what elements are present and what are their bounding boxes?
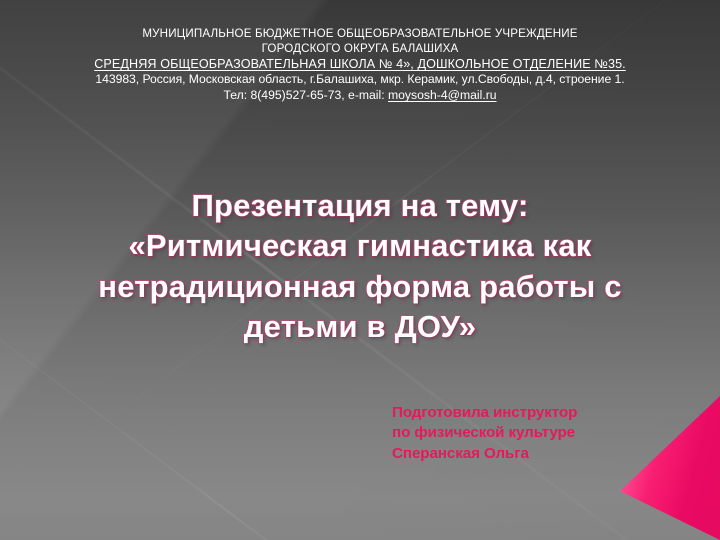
- institution-header-block: МУНИЦИПАЛЬНОЕ БЮДЖЕТНОЕ ОБЩЕОБРАЗОВАТЕЛЬ…: [0, 26, 720, 104]
- author-line-1: Подготовила инструктор: [392, 403, 652, 423]
- title-line-1: Презентация на тему:: [50, 186, 670, 226]
- author-line-3-name: Сперанская Ольга: [392, 444, 652, 464]
- author-credit-block: Подготовила инструктор по физической кул…: [392, 403, 652, 464]
- title-line-3: нетрадиционная форма работы с: [50, 267, 670, 307]
- header-line-4-address: 143983, Россия, Московская область, г.Ба…: [0, 72, 720, 88]
- header-line-3-school-name: СРЕДНЯЯ ОБЩЕОБРАЗОВАТЕЛЬНАЯ ШКОЛА № 4», …: [0, 56, 720, 72]
- author-line-2: по физической культуре: [392, 423, 652, 443]
- presentation-slide: МУНИЦИПАЛЬНОЕ БЮДЖЕТНОЕ ОБЩЕОБРАЗОВАТЕЛЬ…: [0, 0, 720, 540]
- email-link[interactable]: moysosh-4@mail.ru: [388, 88, 497, 102]
- header-line-1: МУНИЦИПАЛЬНОЕ БЮДЖЕТНОЕ ОБЩЕОБРАЗОВАТЕЛЬ…: [0, 26, 720, 41]
- title-line-2: «Ритмическая гимнастика как: [50, 226, 670, 266]
- slide-title: Презентация на тему: «Ритмическая гимнас…: [50, 186, 670, 347]
- title-line-4: детьми в ДОУ»: [50, 307, 670, 347]
- phone-label: Тел: 8(495)527-65-73, e-mail:: [223, 88, 388, 102]
- header-line-5-contacts: Тел: 8(495)527-65-73, e-mail: moysosh-4@…: [0, 88, 720, 104]
- header-line-2: ГОРОДСКОГО ОКРУГА БАЛАШИХА: [0, 41, 720, 56]
